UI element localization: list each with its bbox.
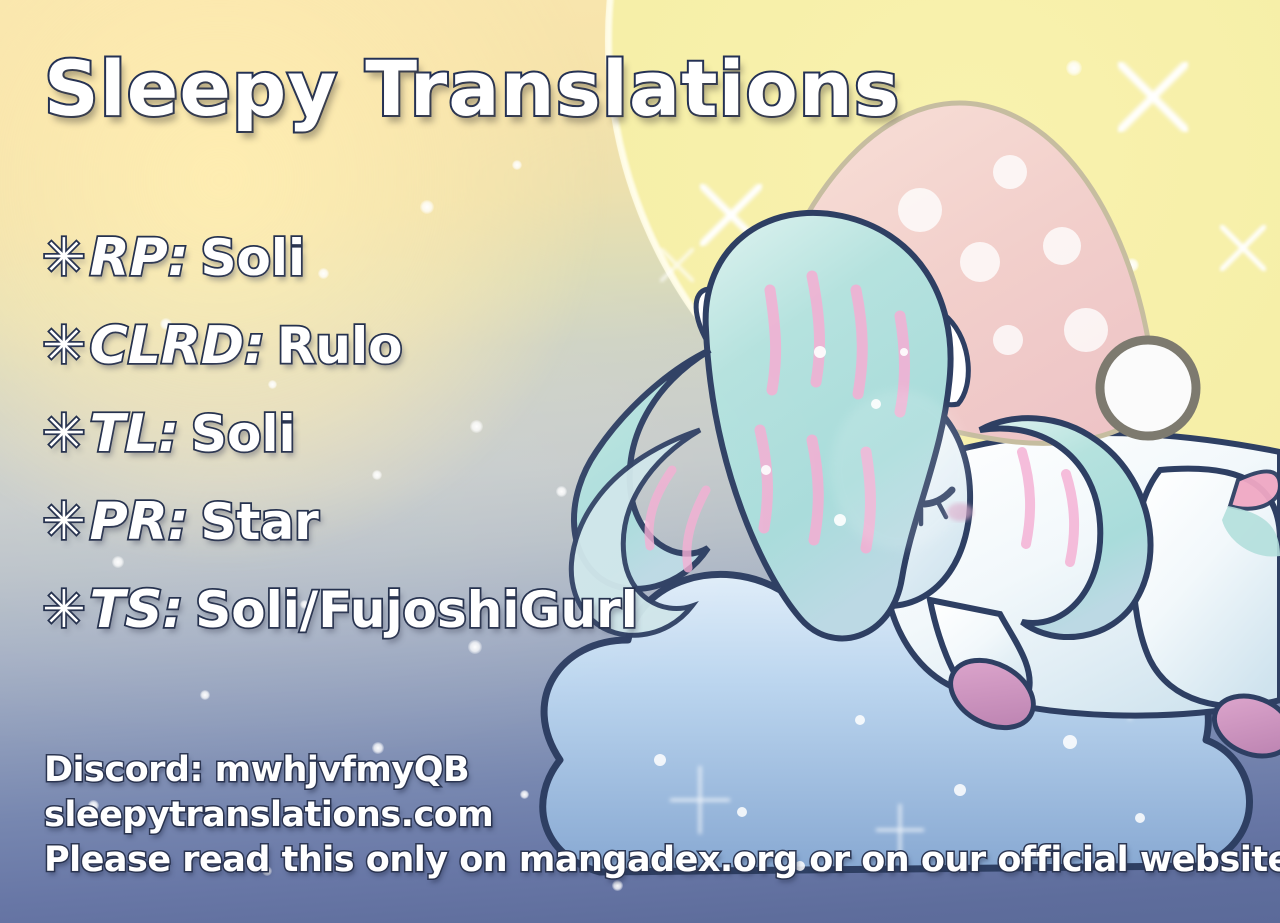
- credit-name-value: Rulo: [277, 321, 403, 371]
- credit-name-value: Soli: [201, 233, 306, 283]
- page-title: Sleepy Translations: [44, 44, 900, 133]
- asterisk-icon: ✳: [42, 408, 86, 460]
- credit-role-label: PR:: [90, 496, 189, 548]
- footer-info: Discord: mwhjvfmyQB sleepytranslations.c…: [44, 748, 1280, 883]
- credit-name-value: Soli: [191, 409, 296, 459]
- credit-row-rp: ✳ RP: Soli: [42, 232, 742, 320]
- discord-line: Discord: mwhjvfmyQB: [44, 748, 1280, 793]
- credit-role-label: TS:: [90, 584, 184, 636]
- credit-role-label: CLRD:: [90, 320, 265, 372]
- asterisk-icon: ✳: [42, 584, 86, 636]
- asterisk-icon: ✳: [42, 232, 86, 284]
- credit-role-label: TL:: [90, 408, 179, 460]
- credits-banner: Sleepy Translations ✳ RP: Soli ✳ CLRD: R…: [0, 0, 1280, 923]
- credit-role-label: RP:: [90, 232, 189, 284]
- credit-row-ts: ✳ TS: Soli/FujoshiGurl: [42, 584, 742, 672]
- credit-name-value: Star: [201, 497, 319, 547]
- credit-row-tl: ✳ TL: Soli: [42, 408, 742, 496]
- credit-row-pr: ✳ PR: Star: [42, 496, 742, 584]
- read-notice-line: Please read this only on mangadex.org or…: [44, 838, 1280, 883]
- credit-row-clrd: ✳ CLRD: Rulo: [42, 320, 742, 408]
- website-line: sleepytranslations.com: [44, 793, 1280, 838]
- asterisk-icon: ✳: [42, 320, 86, 372]
- credit-name-value: Soli/FujoshiGurl: [195, 585, 638, 635]
- asterisk-icon: ✳: [42, 496, 86, 548]
- credits-list: ✳ RP: Soli ✳ CLRD: Rulo ✳ TL: Soli ✳ PR:…: [42, 232, 742, 672]
